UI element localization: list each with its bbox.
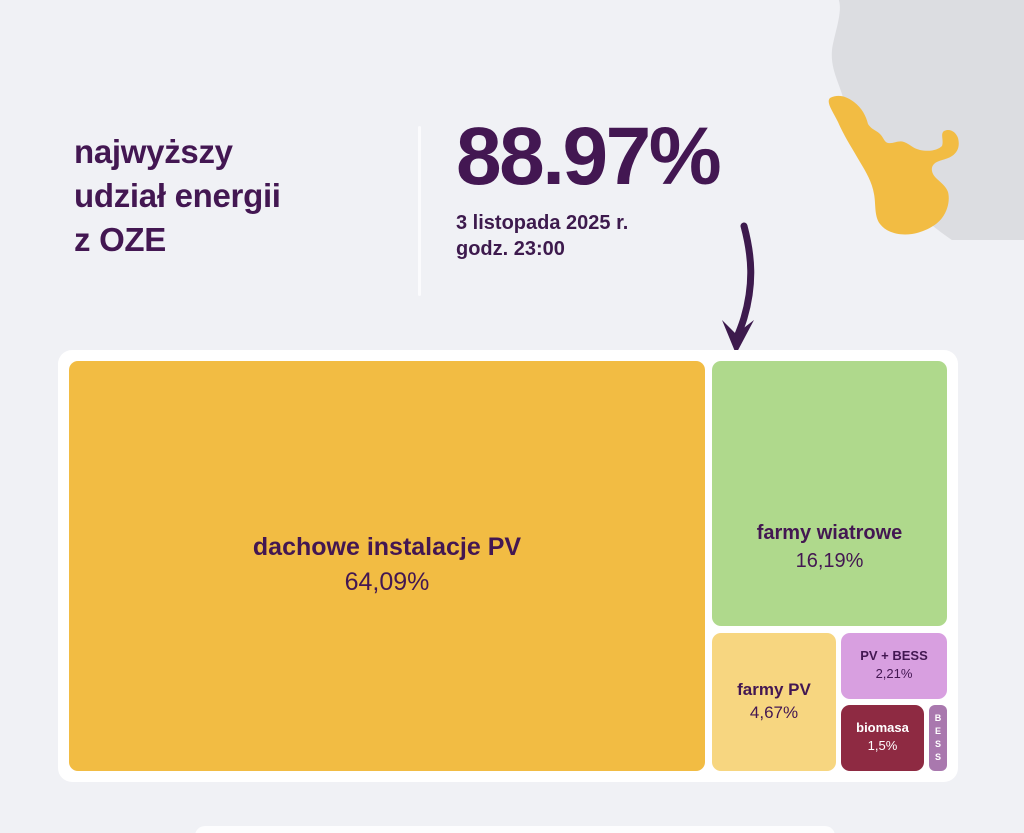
stat-block: 88.97% 3 listopada 2025 r. godz. 23:00 (456, 118, 846, 262)
treemap-tile-biomass[interactable]: biomasa 1,5% (841, 705, 924, 771)
tile-value: 2,21% (876, 666, 913, 683)
headline-percentage: 88.97% (456, 118, 846, 196)
treemap-card: dachowe instalacje PV 64,09% farmy wiatr… (58, 350, 958, 782)
tile-value: 16,19% (796, 548, 864, 574)
treemap-tile-pv-farms[interactable]: farmy PV 4,67% (712, 633, 836, 771)
tile-label-letter: B (935, 712, 942, 725)
next-card-peek (195, 826, 835, 833)
map-highlighted-region-shape (829, 96, 959, 235)
tile-label-letter: S (935, 751, 942, 764)
treemap-tile-rooftop-pv[interactable]: dachowe instalacje PV 64,09% (69, 361, 705, 771)
tile-value: 64,09% (345, 566, 430, 599)
tile-label: farmy wiatrowe (757, 522, 903, 545)
tile-label: biomasa (856, 721, 909, 736)
treemap-tile-wind-farms[interactable]: farmy wiatrowe 16,19% (712, 361, 947, 626)
treemap-tile-bess[interactable]: BESS (929, 705, 947, 771)
stat-date-line: 3 listopada 2025 r. (456, 210, 846, 236)
headline-line-2: udział energii (74, 174, 404, 218)
tile-label-letter: S (935, 738, 942, 751)
arrow-head (722, 320, 754, 354)
headline-line-3: z OZE (74, 218, 404, 262)
tile-label-letter: E (935, 725, 942, 738)
headline-line-1: najwyższy (74, 130, 404, 174)
treemap-chart: dachowe instalacje PV 64,09% farmy wiatr… (69, 361, 947, 771)
vertical-divider (418, 126, 421, 296)
header-section: najwyższy udział energii z OZE 88.97% 3 … (74, 118, 844, 308)
tile-label: dachowe instalacje PV (253, 533, 521, 562)
tile-value: 1,5% (868, 738, 898, 755)
treemap-tile-pv-bess[interactable]: PV + BESS 2,21% (841, 633, 947, 699)
tile-value: 4,67% (750, 702, 798, 724)
tile-label-vertical: BESS (935, 712, 942, 764)
stat-time-line: godz. 23:00 (456, 236, 846, 262)
map-landmass-shape (832, 0, 1024, 240)
stat-timestamp: 3 listopada 2025 r. godz. 23:00 (456, 210, 846, 262)
tile-label: farmy PV (737, 680, 811, 700)
page-title: najwyższy udział energii z OZE (74, 130, 404, 262)
tile-label: PV + BESS (860, 649, 928, 664)
